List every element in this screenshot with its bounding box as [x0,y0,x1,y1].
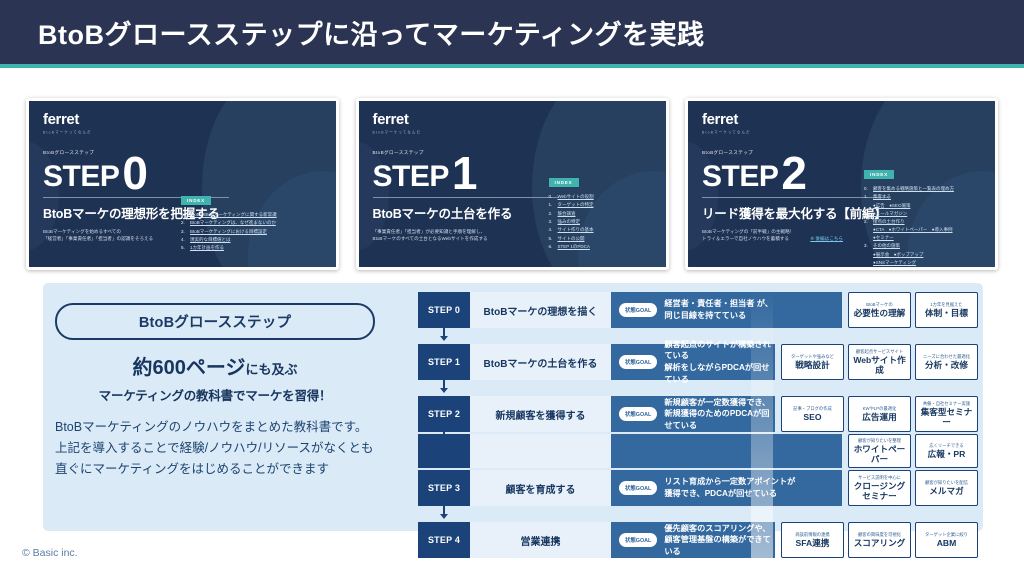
index-subitem[interactable]: ●メールマガジン [864,210,954,218]
goal-badge: 状態GOAL [619,481,657,495]
index-number: 3. [864,242,873,250]
index-subitem[interactable]: ●展示会 ●ポップアップ [864,251,954,259]
index-subitem[interactable]: ●セミナー [864,234,954,242]
tactic-label: ホワイトペーパー [851,445,908,465]
index-text: 顧客を集める戦略施策と一覧表の埋め方 [873,185,954,193]
index-item[interactable]: 5.サイトの公開 [549,235,594,243]
tactic-caption: 顧客が知りたいを整理 [851,438,908,443]
index-item[interactable]: 4.現実的な目標値とは [181,236,277,244]
slide-thumbnail-2[interactable]: ferretBtoBマーケってなんだBtoBグロースステップSTEP2リード獲得… [685,98,998,270]
slide-description: 「事業責任者」「担当者」が必要知識と手順を理解し、BtoBマーケのすべての土台と… [373,228,488,242]
index-number: 1. [549,201,558,209]
tactic-label: 戦略設計 [784,361,841,371]
slide-page: BtoBグロースステップに沿ってマーケティングを実践 ferretBtoBマーケ… [0,0,1024,576]
tactic-card[interactable]: 共催・自社セミナー実施集客型セミナー [915,396,978,432]
index-item[interactable]: 1.ターゲットの特定 [549,201,594,209]
tactic-label: スコアリング [851,539,908,549]
goal-badge: 状態GOAL [619,407,657,421]
tactic-caption: ターゲットや強みなど [784,354,841,359]
index-text: 現実的な目標値とは [190,236,231,244]
slide-step-word: STEP [702,163,778,192]
index-subitem[interactable]: ●広告 ●SEO施策 [864,202,954,210]
index-text: BtoBのBtoBマーケティングに関する新常識 [190,211,277,219]
tactic-card[interactable]: 1カ年を見据えた体制・目標 [915,292,978,328]
ferret-logo-tagline: BtoBマーケってなんだ [373,129,666,135]
index-item[interactable]: 2.BtoBマーケティングは、なぜ進まないのか [181,219,277,227]
index-number: 5. [549,235,558,243]
slide-thumbnail-1[interactable]: ferretBtoBマーケってなんだBtoBグロースステップSTEP1BtoBマ… [356,98,669,270]
slide-thumbnail-0[interactable]: ferretBtoBマーケってなんだBtoBグロースステップSTEP0BtoBマ… [26,98,339,270]
index-text: BtoBマーケティングは、なぜ進まないのか [190,219,276,227]
index-item[interactable]: 5.1カ年計画を作る [181,244,277,252]
index-number: 3. [181,228,190,236]
step-number-cell: STEP 3 [418,470,470,506]
index-number: 0. [864,185,873,193]
goal-text: リスト育成から一定数アポイントが獲得でき、PDCAが回せている [664,476,795,499]
slide-step-number: 0 [122,155,148,192]
tactic-card[interactable]: ターゲットや強みなど戦略設計 [781,344,844,380]
index-item[interactable]: 6.STEP 1のPDCA [549,243,594,251]
ferret-logo: ferret [702,111,995,128]
step-title-cell-spacer [470,434,611,468]
step-title-cell: 新規顧客を獲得する [470,396,611,432]
goal-badge: 状態GOAL [619,303,657,317]
tactic-card[interactable]: 顧客の興味度を可視化スコアリング [848,522,911,558]
tactic-caption: KWやLPの最適化 [851,406,908,411]
index-text: STEP 1のPDCA [558,243,590,251]
flow-row: STEP 3顧客を育成する状態GOALリスト育成から一定数アポイントが獲得でき、… [418,470,978,506]
index-label: INDEX [549,178,579,187]
tactic-label: 集客型セミナー [918,408,975,428]
page-title: BtoBグロースステップに沿ってマーケティングを実践 [38,13,705,52]
tactic-caption: 商談前情報の連携 [784,532,841,537]
index-number: 4. [181,236,190,244]
goal-text: 優先顧客のスコアリングや、顧客管理基盤の構築ができている [664,523,775,558]
flow-row: STEP 4営業連携状態GOAL優先顧客のスコアリングや、顧客管理基盤の構築がで… [418,522,978,558]
index-label: INDEX [864,170,894,179]
index-item[interactable]: 3.強みの特定 [549,218,594,226]
index-text: 強みの特定 [558,218,581,226]
step-title-cell: BtoBマーケの土台を作る [470,344,611,380]
index-subitem[interactable]: ●CTA ●ホワイトペーパー ●導入事例 [864,226,954,234]
tactic-caption: 顧客の興味度を可視化 [851,532,908,537]
textbook-body: BtoBマーケティングのノウハウをまとめた教科書です。 上記を導入することで経験… [55,417,375,480]
goal-text: 経営者・責任者・担当者 が、同じ目線を持てている [664,298,773,321]
index-text: Webサイトの役割 [558,193,594,201]
slide-index-box: INDEX0.Webサイトの役割1.ターゲットの特定2.競合調査3.強みの特定4… [549,171,594,251]
tactic-card[interactable]: ニーズに合わせた最適化分析・改修 [915,344,978,380]
slide-description: BtoBマーケティングの「前半戦」の主戦略！トライ＆エラーで自社ノウハウを蓄積す… [702,228,794,242]
index-number: 1. [864,193,873,201]
index-text: 接点の土台作り [873,218,905,226]
flow-row: STEP 1BtoBマーケの土台を作る状態GOAL顧客起点のサイトが構築されてい… [418,344,978,380]
growth-step-flow-table: STEP 0BtoBマーケの理想を描く状態GOAL経営者・責任者・担当者 が、同… [418,292,978,560]
page-count-suffix: にも及ぶ [245,362,297,377]
tactic-label: Webサイト作成 [851,356,908,376]
tactic-caption: 共催・自社セミナー実施 [918,401,975,406]
slide-step-number: 1 [452,155,478,192]
tactic-caption: サービス説明を中心に [851,475,908,480]
flow-row-gap [418,508,978,522]
goal-badge: 状態GOAL [619,533,657,547]
goal-cell: 状態GOALリスト育成から一定数アポイントが獲得でき、PDCAが回せている [611,470,842,506]
goal-text: 顧客起点のサイトが構築されている解析をしながらPDCAが回せている [664,339,775,386]
tactic-card[interactable]: KWやLPの最適化広告運用 [848,396,911,432]
index-number: 3. [549,218,558,226]
tactic-label: SEO [784,413,841,423]
tactic-label: SFA連携 [784,539,841,549]
flow-arrow-icon [441,432,447,446]
book-summary-column: BtoBグロースステップ 約600ページにも及ぶ マーケティングの教科書でマーケ… [55,303,375,480]
tactic-label: 必要性の理解 [851,309,908,319]
index-list: 1.BtoBのBtoBマーケティングに関する新常識2.BtoBマーケティングは、… [181,211,277,253]
index-item[interactable]: 2.競合調査 [549,210,594,218]
growth-step-pill: BtoBグロースステップ [55,303,375,340]
goal-cell: 状態GOAL経営者・責任者・担当者 が、同じ目線を持てている [611,292,842,328]
index-item[interactable]: 4.サイト作りの基本 [549,226,594,234]
slide-description: BtoBマーケティングを始めるすべての「経営者」「事業責任者」「担当者」の認識を… [43,228,153,242]
index-text: その他の施策 [873,242,900,250]
flow-arrow-icon [441,328,447,342]
goal-cell: 状態GOAL優先顧客のスコアリングや、顧客管理基盤の構築ができている [611,522,775,558]
tactic-label: メルマガ [918,487,975,497]
goal-cell: 状態GOAL顧客起点のサイトが構築されている解析をしながらPDCAが回せている [611,344,775,380]
flow-row: STEP 0BtoBマーケの理想を描く状態GOAL経営者・責任者・担当者 が、同… [418,292,978,328]
index-number: 5. [181,244,190,252]
step-title-cell: 営業連携 [470,522,611,558]
index-number: 2. [864,218,873,226]
step-title-cell: 顧客を育成する [470,470,611,506]
page-count-value: 約600ページ [133,357,246,379]
tactic-card[interactable]: 商談前情報の連携SFA連携 [781,522,844,558]
slide-index-box: INDEX1.BtoBのBtoBマーケティングに関する新常識2.BtoBマーケテ… [181,189,277,253]
tactic-caption: BtoBマーケの [851,302,908,307]
index-label: INDEX [181,196,211,205]
index-number: 4. [549,226,558,234]
index-text: 1カ年計画を作る [190,244,224,252]
page-count-headline: 約600ページにも及ぶ [55,351,375,380]
goal-text: 新規顧客が一定数獲得でき、新規獲得のためのPDCAが回せている [664,397,775,432]
tactic-caption: ターゲット企業に絞り [918,532,975,537]
flow-row-overflow: 顧客が知りたいを整理ホワイトペーパー広くリーチできる広報・PR [418,434,978,468]
textbook-subhead: マーケティングの教科書でマーケを習得！ [55,385,375,404]
index-text: 競合調査 [558,210,576,218]
tactic-card-group: 顧客が知りたいを整理ホワイトペーパー広くリーチできる広報・PR [848,434,978,468]
tactic-card[interactable]: ターゲット企業に絞りABM [915,522,978,558]
ferret-logo-tagline: BtoBマーケってなんだ [43,129,336,135]
index-text: 集客する [873,193,891,201]
footer-copyright: © Basic inc. [22,547,78,559]
tactic-label: 分析・改修 [918,361,975,371]
tactic-card[interactable]: 広くリーチできる広報・PR [915,434,978,468]
tactic-card-group: サービス説明を中心にクロージングセミナー顧客が知りたいを配信メルマガ [848,470,978,506]
tactic-card[interactable]: 顧客が知りたいを配信メルマガ [915,470,978,506]
tactic-card-group: BtoBマーケの必要性の理解1カ年を見据えた体制・目標 [848,292,978,328]
index-number: 2. [549,210,558,218]
index-text: ターゲットの特定 [558,201,594,209]
step-number-cell: STEP 2 [418,396,470,432]
goal-badge: 状態GOAL [619,355,657,369]
tactic-caption: 顧客起点サービスサイト [851,349,908,354]
tactic-label: 体制・目標 [918,309,975,319]
tactic-caption: 広くリーチできる [918,443,975,448]
goal-cell: 状態GOAL新規顧客が一定数獲得でき、新規獲得のためのPDCAが回せている [611,396,775,432]
tactic-card-group: 商談前情報の連携SFA連携顧客の興味度を可視化スコアリングターゲット企業に絞りA… [781,522,978,558]
tactic-card[interactable]: サービス説明を中心にクロージングセミナー [848,470,911,506]
flow-arrow-icon [441,506,447,520]
flow-arrow-icon [441,380,447,394]
slide-step-number: 2 [781,155,807,192]
slide-step-word: STEP [43,163,119,192]
index-number: 0. [549,193,558,201]
slide-heading: BtoBマーケの土台を作る [373,203,666,222]
step-number-cell: STEP 4 [418,522,470,558]
index-item[interactable]: 0.Webサイトの役割 [549,193,594,201]
index-item[interactable]: 1.BtoBのBtoBマーケティングに関する新常識 [181,211,277,219]
ferret-logo: ferret [43,111,336,128]
tactic-caption: 1カ年を見据えた [918,302,975,307]
tactic-card[interactable]: 顧客起点サービスサイトWebサイト作成 [848,344,911,380]
tactic-card[interactable]: 顧客が知りたいを整理ホワイトペーパー [848,434,911,468]
tactic-label: 広報・PR [918,450,975,460]
index-number: 2. [181,219,190,227]
tactic-label: 広告運用 [851,413,908,423]
slide-link[interactable]: ※ 後編はこちら [810,236,843,242]
index-item[interactable]: 3.BtoBマーケティングにおける目標設定 [181,228,277,236]
tactic-card-group: ターゲットや強みなど戦略設計顧客起点サービスサイトWebサイト作成ニーズに合わせ… [781,344,978,380]
slide-thumbnail-row: ferretBtoBマーケってなんだBtoBグロースステップSTEP0BtoBマ… [26,98,998,270]
flow-row: STEP 2新規顧客を獲得する状態GOAL新規顧客が一定数獲得でき、新規獲得のた… [418,396,978,432]
index-number: 1. [181,211,190,219]
tactic-card[interactable]: BtoBマーケの必要性の理解 [848,292,911,328]
step-title-cell: BtoBマーケの理想を描く [470,292,611,328]
index-item[interactable]: 0.顧客を集める戦略施策と一覧表の埋め方 [864,185,954,193]
index-text: BtoBマーケティングにおける目標設定 [190,228,267,236]
tactic-caption: ニーズに合わせた最適化 [918,354,975,359]
tactic-card-group: 記事・ブログの作成SEOKWやLPの最適化広告運用共催・自社セミナー実施集客型セ… [781,396,978,432]
index-item[interactable]: 3.その他の施策 [864,242,954,250]
index-number: 6. [549,243,558,251]
step-number-cell: STEP 1 [418,344,470,380]
tactic-card[interactable]: 記事・ブログの作成SEO [781,396,844,432]
index-text: サイト作りの基本 [558,226,594,234]
index-list: 0.顧客を集める戦略施策と一覧表の埋め方1.集客する●広告 ●SEO施策●メール… [864,185,954,267]
ferret-logo: ferret [373,111,666,128]
goal-cell-spacer [611,434,842,468]
tactic-label: クロージングセミナー [851,482,908,502]
index-item[interactable]: 1.集客する [864,193,954,201]
page-header: BtoBグロースステップに沿ってマーケティングを実践 [0,0,1024,68]
index-subitem[interactable]: ●SNSマーケティング [864,259,954,267]
ferret-logo-tagline: BtoBマーケってなんだ [702,129,995,135]
step-number-cell: STEP 0 [418,292,470,328]
tactic-label: ABM [918,539,975,549]
tactic-caption: 記事・ブログの作成 [784,406,841,411]
index-text: サイトの公開 [558,235,585,243]
slide-index-box: INDEX0.顧客を集める戦略施策と一覧表の埋め方1.集客する●広告 ●SEO施… [864,163,954,267]
index-item[interactable]: 2.接点の土台作り [864,218,954,226]
tactic-caption: 顧客が知りたいを配信 [918,480,975,485]
index-list: 0.Webサイトの役割1.ターゲットの特定2.競合調査3.強みの特定4.サイト作… [549,193,594,251]
slide-step-word: STEP [373,163,449,192]
